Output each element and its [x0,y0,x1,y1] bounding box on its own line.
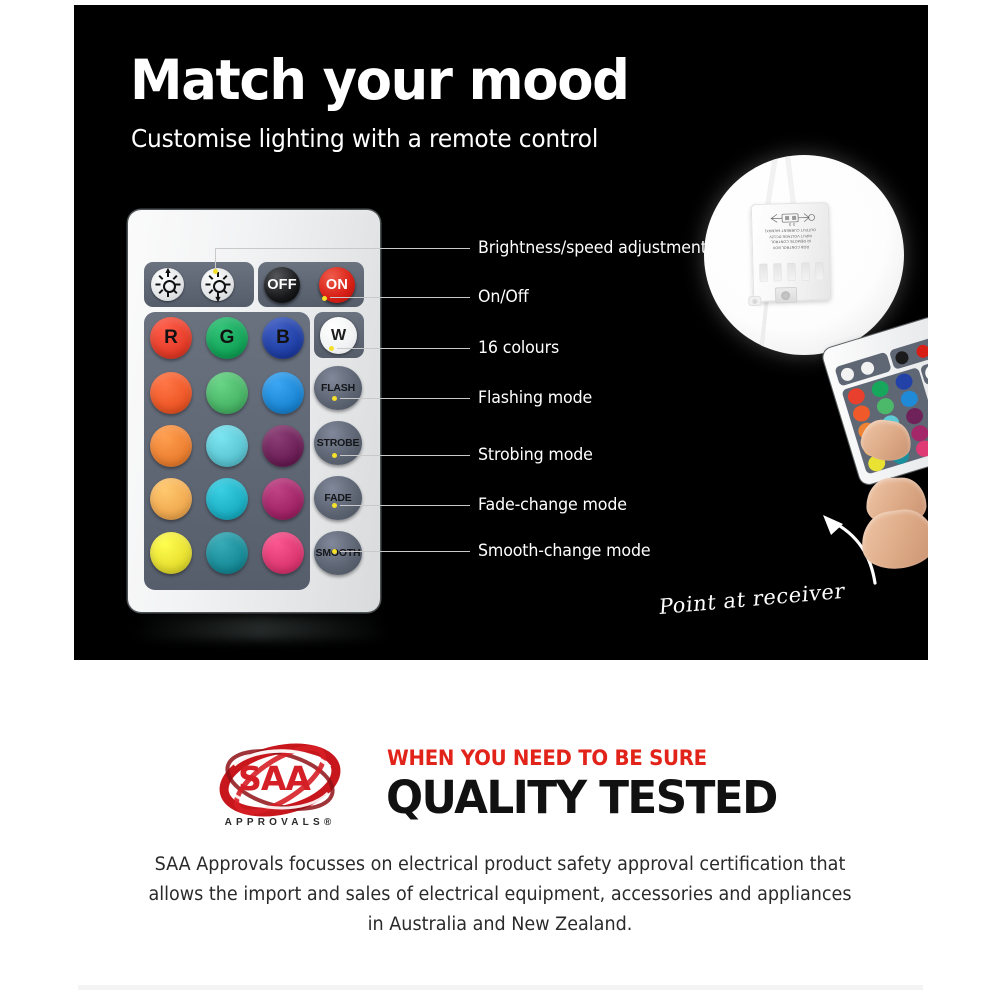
colour-button-r3c3[interactable] [262,425,304,467]
fade-button[interactable]: FADE [314,476,362,520]
saa-headline-large: QUALITY TESTED [386,771,777,824]
colour-button-g[interactable]: G [206,317,248,359]
off-button[interactable]: OFF [264,267,300,303]
colour-button-r3c2[interactable] [206,425,248,467]
colour-button-r[interactable]: R [150,317,192,359]
leader-line-0 [215,248,470,249]
annotation-brightness-row: Brightness/speed adjustment [478,238,707,257]
colour-button-r4c1[interactable] [150,478,192,520]
saa-headline-small: WHEN YOU NEED TO BE SURE [387,746,707,770]
leader-line-4 [340,455,470,456]
receiver-wire-right [784,155,796,207]
colour-button-b[interactable]: B [262,317,304,359]
colour-button-r5c1[interactable] [150,532,192,574]
page-subtitle: Customise lighting with a remote control [131,124,598,153]
hero-panel: Match your mood Customise lighting with … [74,5,928,660]
finger-index [859,417,914,464]
product-infographic-page: Match your mood Customise lighting with … [0,0,1000,1000]
colour-button-r4c3[interactable] [262,478,304,520]
colour-button-r2c3[interactable] [262,372,304,414]
annotation-power-row: On/Off [478,287,529,306]
receiver-inset: RGB CONTROL BOX IR REMOTE CONTROL INPUT … [704,155,904,355]
receiver-diagram [765,208,815,227]
leader-dot-3 [332,396,337,401]
leader-dot-5 [332,503,337,508]
leader-line-3 [340,398,470,399]
receiver-wiring-diagram-icon [765,208,815,227]
annotation-flash-button: Flashing mode [478,388,592,407]
receiver-vents [759,262,823,282]
colour-button-label: G [206,317,248,359]
colour-button-label: R [150,317,192,359]
strobe-button[interactable]: STROBE [314,421,362,465]
leader-dot-1 [322,296,327,301]
annotation-fade-button: Fade-change mode [478,495,627,514]
colour-button-r5c2[interactable] [206,532,248,574]
page-title: Match your mood [130,53,629,108]
saa-approvals-text: APPROVALS® [212,817,348,828]
rgb-control-box: RGB CONTROL BOX IR REMOTE CONTROL INPUT … [751,202,832,302]
receiver-mount-tab [748,296,761,306]
annotation-white-button: 16 colours [478,338,559,357]
colour-button-r2c1[interactable] [150,372,192,414]
brightness-up-button[interactable]: ▲▼ [151,268,184,301]
annotation-smooth-button: Smooth-change mode [478,541,651,560]
flash-button[interactable]: FLASH [314,366,362,410]
point-at-receiver-note: Point at receiver [658,579,846,620]
colour-button-grid: RGB [144,312,310,590]
colour-button-r2c2[interactable] [206,372,248,414]
receiver-wire-bottom [759,301,768,355]
annotation-strobe-button: Strobing mode [478,445,593,464]
colour-button-r3c1[interactable] [150,425,192,467]
receiver-dc-jack [775,287,797,304]
sun-up-icon: ▲▼ [156,273,179,296]
receiver-box-text: RGB CONTROL BOX IR REMOTE CONTROL INPUT … [755,226,826,250]
sun-down-icon: ▼▲ [206,273,229,296]
leader-line-1 [330,297,470,298]
saa-logo: SAA APPROVALS® [212,743,348,839]
leader-dot-4 [332,453,337,458]
colour-button-r4c2[interactable] [206,478,248,520]
leader-line-6 [340,551,470,552]
leader-line-5 [340,505,470,506]
colour-button-label: B [262,317,304,359]
leader-dot-2 [329,346,334,351]
leader-dot-0 [213,269,218,274]
saa-description: SAA Approvals focusses on electrical pro… [139,850,861,940]
receiver-wire-left [765,155,778,207]
smooth-button[interactable]: SMOOTH [314,531,362,575]
saa-banner: SAA APPROVALS® WHEN YOU NEED TO BE SURE … [0,735,1000,845]
leader-line-vertical [215,248,216,271]
colour-button-r5c3[interactable] [262,532,304,574]
saa-logo-text: SAA [212,759,336,798]
remote-control: ▲▼ ▼▲ OFF ON W RGB FLASHSTROBEFADESMOOTH [128,210,393,640]
footer-divider [78,985,923,990]
leader-dot-6 [332,549,337,554]
leader-line-2 [337,348,470,349]
